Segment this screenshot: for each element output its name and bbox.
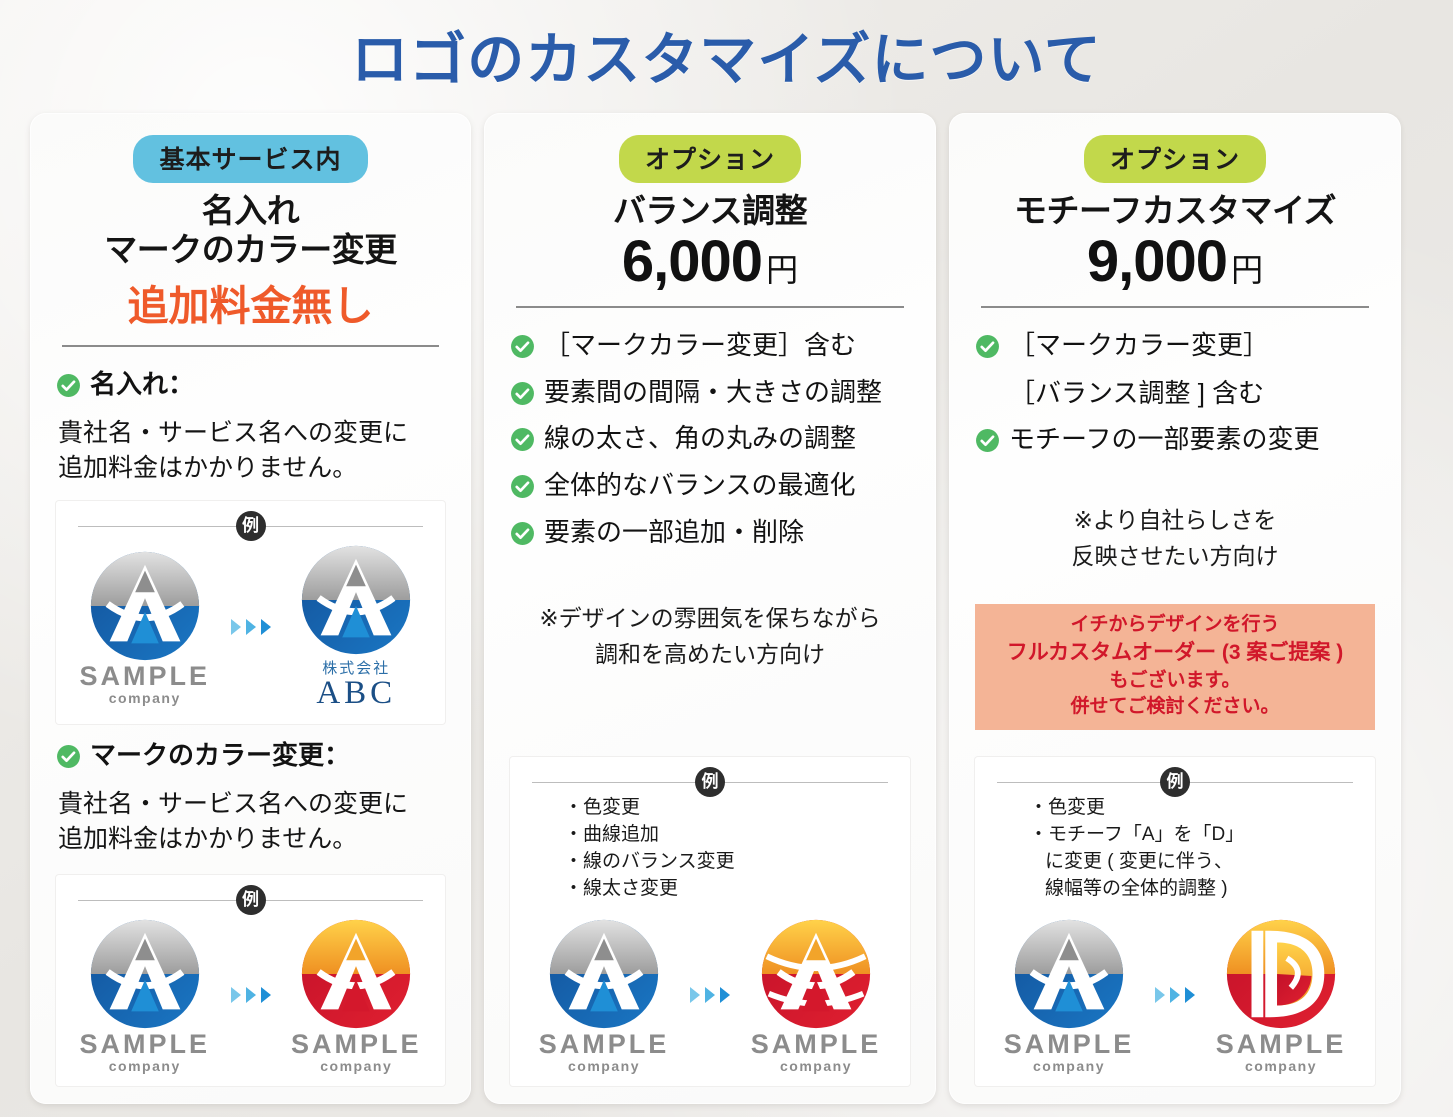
list-item: ・色変更 — [1029, 795, 1361, 822]
body-line1: 貴社名・サービス名への変更に — [58, 419, 408, 447]
feature-item: ［マークカラー変更］含む — [510, 330, 910, 362]
example-body: SAMPLE company — [70, 901, 431, 1074]
example-box-color: 例 SAMPLE company — [56, 875, 445, 1087]
logo-name: SAMPLE — [70, 661, 220, 692]
card-title-line2: マークのカラー変更 — [56, 231, 445, 270]
list-item: ・線太さ変更 — [564, 876, 896, 903]
feature-item: 全体的なバランスの最適化 — [510, 470, 910, 502]
card-title-balance: バランス調整 — [510, 192, 910, 231]
logo-mark-blue-icon — [545, 915, 663, 1033]
logo-mark-red-globe-icon — [757, 915, 875, 1033]
body-line1: 貴社名・サービス名への変更に — [58, 790, 408, 818]
logo-after: SAMPLE company — [282, 915, 432, 1074]
feature-label: ［マークカラー変更］ — [1009, 330, 1269, 362]
logo-mark-blue-icon — [86, 547, 204, 665]
feature-body-text: 貴社名・サービス名への変更に 追加料金はかかりません。 — [58, 787, 445, 858]
feature-list-basic: 名入れ： 貴社名・サービス名への変更に 追加料金はかかりません。 — [56, 369, 445, 501]
logo-sub: company — [70, 1058, 220, 1074]
example-badge-wrap: 例 — [70, 511, 431, 541]
feature-label: 要素間の間隔・大きさの調整 — [544, 377, 882, 409]
logo-name: SAMPLE — [70, 1029, 220, 1060]
logo-name: SAMPLE — [282, 1029, 432, 1060]
check-icon — [510, 381, 535, 406]
logo-sub: company — [529, 1058, 679, 1074]
check-icon — [510, 474, 535, 499]
note-line1: ※より自社らしさを — [1074, 507, 1277, 533]
feature-list-color: マークのカラー変更： 貴社名・サービス名への変更に 追加料金はかかりません。 — [56, 740, 445, 872]
logo-name: SAMPLE — [741, 1029, 891, 1060]
title-divider — [62, 345, 439, 347]
example-badge-icon: 例 — [695, 767, 725, 797]
note-balance: ※デザインの雰囲気を保ちながら 調和を高めたい方向け — [510, 601, 910, 672]
card-container: 基本サービス内 名入れ マークのカラー変更 追加料金無し 名入れ： 貴社名・サー… — [30, 113, 1401, 1104]
price-balance: 6,000円 — [510, 232, 910, 293]
card-title-motif: モチーフカスタマイズ — [975, 192, 1375, 231]
example-body: SAMPLE company — [524, 909, 896, 1074]
arrow-triple-icon — [230, 618, 272, 636]
card-motif-customize: オプション モチーフカスタマイズ 9,000円 ［マークカラー変更］ ［バランス… — [949, 113, 1401, 1104]
logo-after: SAMPLE company — [1206, 915, 1356, 1074]
badge-option: オプション — [619, 135, 801, 183]
example-body: SAMPLE company — [989, 909, 1361, 1074]
feature-label: 線の太さ、角の丸みの調整 — [544, 423, 856, 455]
logo-after: SAMPLE company — [741, 915, 891, 1074]
check-icon — [510, 427, 535, 452]
arrow-triple-icon — [689, 986, 731, 1004]
logo-sub: company — [994, 1058, 1144, 1074]
logo-mark-blue-icon — [86, 915, 204, 1033]
title-divider — [981, 306, 1369, 308]
arrow-triple-icon — [230, 986, 272, 1004]
list-item-cont: 線幅等の全体的調整 ) — [1029, 876, 1361, 903]
card-basic-service: 基本サービス内 名入れ マークのカラー変更 追加料金無し 名入れ： 貴社名・サー… — [30, 113, 471, 1104]
example-box-balance: 例 ・色変更 ・曲線追加 ・線のバランス変更 ・線太さ変更 — [510, 757, 910, 1086]
callout-line4: 併せてご検討ください。 — [981, 694, 1369, 720]
logo-sub: company — [282, 1058, 432, 1074]
card-title-line1: 名入れ — [202, 192, 300, 229]
logo-sub: company — [741, 1058, 891, 1074]
feature-item: 名入れ： — [56, 369, 445, 401]
feature-label: モチーフの一部要素の変更 — [1009, 424, 1319, 456]
example-box-motif: 例 ・色変更 ・モチーフ「A」を「D」 に変更 ( 変更に伴う、 線幅等の全体的… — [975, 757, 1375, 1086]
logo-name: SAMPLE — [529, 1029, 679, 1060]
logo-before: SAMPLE company — [70, 547, 220, 706]
list-item: ・モチーフ「A」を「D」 — [1029, 822, 1361, 849]
example-badge-icon: 例 — [236, 885, 266, 915]
feature-item: 線の太さ、角の丸みの調整 — [510, 423, 910, 455]
check-icon — [975, 428, 1000, 453]
note-line2: 反映させたい方向け — [975, 539, 1375, 575]
full-custom-order-callout: イチからデザインを行う フルカスタムオーダー (3 案ご提案 ) もございます。… — [975, 604, 1375, 730]
note-line1: ※デザインの雰囲気を保ちながら — [539, 605, 880, 631]
card-title-basic: 名入れ マークのカラー変更 — [56, 192, 445, 270]
example-badge-wrap: 例 — [989, 767, 1361, 797]
example-badge-wrap: 例 — [524, 767, 896, 797]
logo-before: SAMPLE company — [529, 915, 679, 1074]
arrow-triple-icon — [1154, 986, 1196, 1004]
example-badge-icon: 例 — [1160, 767, 1190, 797]
logo-mark-blue-icon — [297, 541, 415, 659]
body-line2: 追加料金はかかりません。 — [58, 825, 357, 853]
logo-sub: company — [70, 690, 220, 706]
logo-abc-text: ABC — [282, 675, 432, 712]
example-bullet-list: ・色変更 ・モチーフ「A」を「D」 に変更 ( 変更に伴う、 線幅等の全体的調整… — [989, 783, 1361, 909]
price-unit: 円 — [1231, 252, 1263, 288]
list-item: 線幅等の全体的調整 ) — [1029, 876, 1361, 903]
feature-item: マークのカラー変更： — [56, 740, 445, 772]
price-amount: 6,000 — [622, 229, 762, 294]
note-line2: 調和を高めたい方向け — [510, 637, 910, 673]
price-amount: 9,000 — [1087, 229, 1227, 294]
badge-row: オプション — [975, 135, 1375, 183]
badge-row: オプション — [510, 135, 910, 183]
example-badge-wrap: 例 — [70, 885, 431, 915]
logo-name: SAMPLE — [1206, 1029, 1356, 1060]
feature-item: 要素の一部追加・削除 — [510, 517, 910, 549]
list-item: に変更 ( 変更に伴う、 — [1029, 849, 1361, 876]
logo-name: SAMPLE — [994, 1029, 1144, 1060]
feature-item: 要素間の間隔・大きさの調整 — [510, 377, 910, 409]
price-unit: 円 — [766, 252, 798, 288]
logo-sub: company — [1206, 1058, 1356, 1074]
list-item: ・曲線追加 — [564, 822, 896, 849]
feature-list-balance: ［マークカラー変更］含む 要素間の間隔・大きさの調整 線の太さ、角の丸みの調整 … — [510, 330, 910, 564]
check-icon — [510, 521, 535, 546]
feature-heading: マークのカラー変更： — [90, 740, 350, 772]
list-item-cont: に変更 ( 変更に伴う、 — [1029, 849, 1361, 876]
logo-mark-d-motif-icon — [1222, 915, 1340, 1033]
price-motif: 9,000円 — [975, 232, 1375, 293]
feature-body-text: 貴社名・サービス名への変更に 追加料金はかかりません。 — [58, 416, 445, 487]
logo-mark-red-icon — [297, 915, 415, 1033]
check-icon — [510, 334, 535, 359]
badge-basic-service: 基本サービス内 — [133, 135, 367, 183]
list-item: ・線のバランス変更 — [564, 849, 896, 876]
example-body: SAMPLE company — [70, 527, 431, 712]
feature-list-motif: ［マークカラー変更］ ［バランス調整 ] 含む モチーフの一部要素の変更 — [975, 330, 1375, 471]
feature-item: モチーフの一部要素の変更 — [975, 424, 1375, 456]
page-title: ロゴのカスタマイズについて — [0, 14, 1453, 96]
logo-before: SAMPLE company — [70, 915, 220, 1074]
card-balance-adjustment: オプション バランス調整 6,000円 ［マークカラー変更］含む 要素間の間隔・… — [484, 113, 936, 1104]
logo-mark-blue-icon — [1010, 915, 1128, 1033]
callout-line1: イチからデザインを行う — [981, 612, 1369, 638]
example-bullet-list: ・色変更 ・曲線追加 ・線のバランス変更 ・線太さ変更 — [524, 783, 896, 909]
title-divider — [516, 306, 904, 308]
feature-sub-label: ［バランス調整 ] 含む — [1009, 377, 1375, 411]
example-badge-icon: 例 — [236, 511, 266, 541]
feature-heading: 名入れ： — [90, 369, 194, 401]
feature-label: 要素の一部追加・削除 — [544, 517, 804, 549]
feature-label: ［マークカラー変更］含む — [544, 330, 856, 362]
example-box-naming: 例 — [56, 501, 445, 725]
list-item: ・色変更 — [564, 795, 896, 822]
check-icon — [56, 744, 81, 769]
logo-after: 株式会社 ABC — [282, 541, 432, 712]
check-icon — [975, 334, 1000, 359]
feature-item: ［マークカラー変更］ — [975, 330, 1375, 362]
feature-label: 全体的なバランスの最適化 — [544, 470, 855, 502]
body-line2: 追加料金はかかりません。 — [58, 454, 357, 482]
infographic-page: ロゴのカスタマイズについて 基本サービス内 名入れ マークのカラー変更 追加料金… — [0, 0, 1453, 1117]
logo-before: SAMPLE company — [994, 915, 1144, 1074]
check-icon — [56, 373, 81, 398]
free-price-label: 追加料金無し — [56, 272, 445, 332]
callout-line3: もございます。 — [981, 668, 1369, 694]
badge-row: 基本サービス内 — [56, 135, 445, 183]
note-motif: ※より自社らしさを 反映させたい方向け — [975, 503, 1375, 574]
callout-line2: フルカスタムオーダー (3 案ご提案 ) — [981, 639, 1369, 668]
badge-option: オプション — [1084, 135, 1266, 183]
